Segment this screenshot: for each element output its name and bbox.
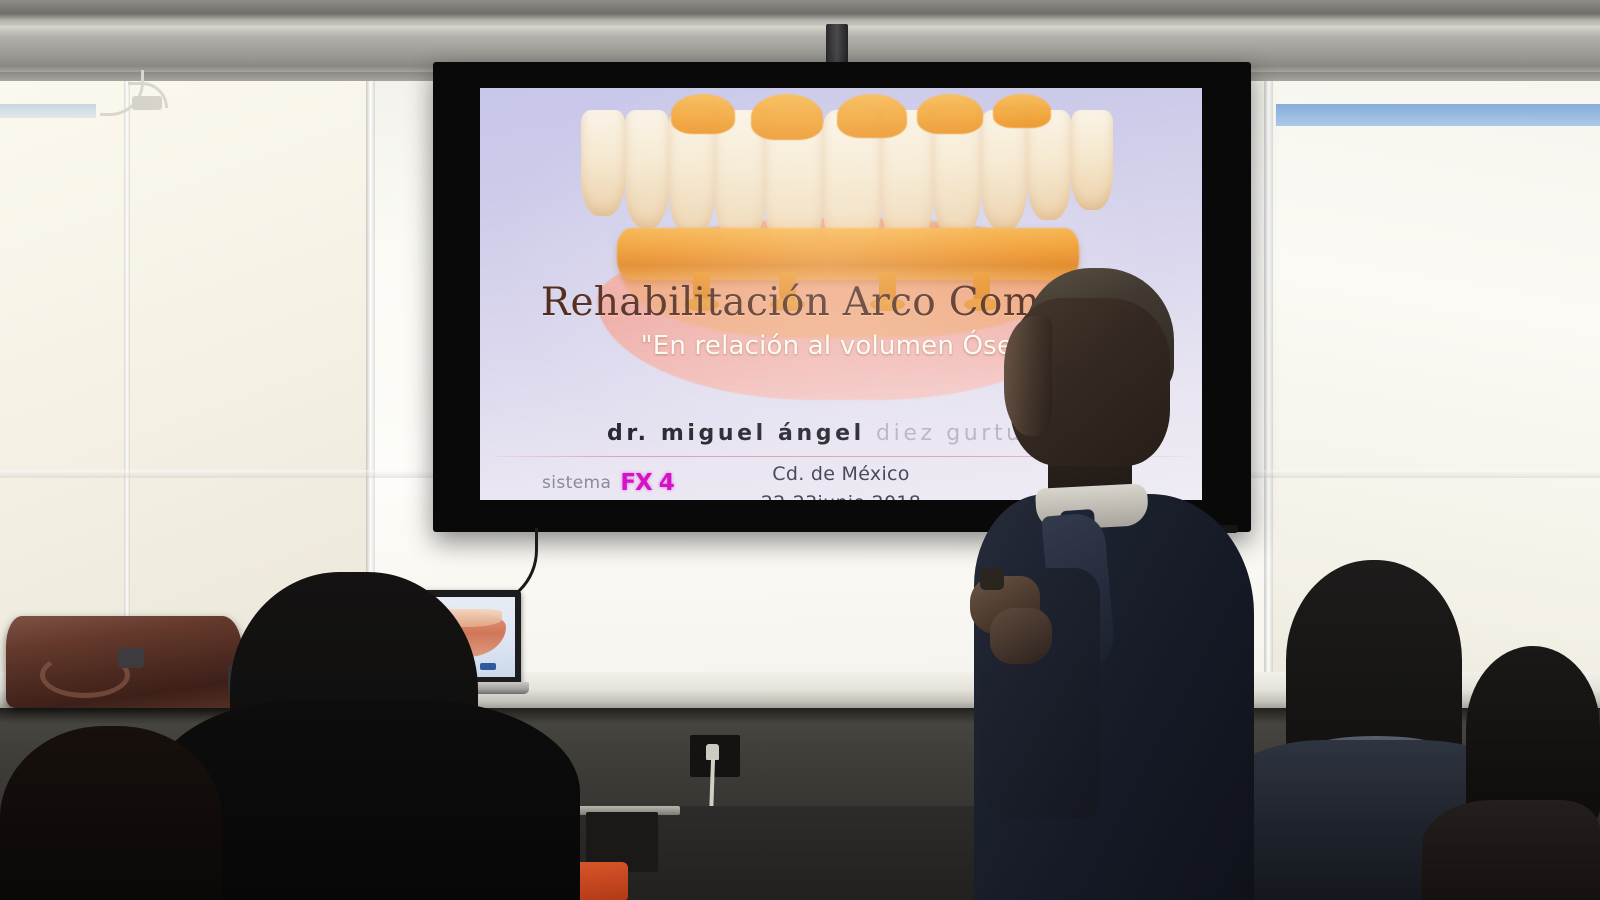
presenter-hand-lower — [990, 608, 1052, 664]
audience-member-head-far-right — [1466, 646, 1600, 822]
audience-member-body-far-right — [1422, 800, 1600, 900]
presenter-clicker — [980, 568, 1004, 590]
audience-member-head-bottom-left — [0, 726, 222, 900]
author-name-strong: dr. miguel ángel — [607, 421, 876, 446]
presentation-room-photo: Rehabilitación Arco Completo "En relació… — [0, 0, 1600, 900]
presenter — [952, 268, 1272, 900]
sky-strip-right — [1276, 104, 1600, 126]
laptop-ui-tag — [480, 663, 496, 670]
bag-strap — [40, 652, 130, 698]
presenter-face-profile — [1004, 316, 1052, 436]
power-adapter — [132, 96, 162, 110]
sky-strip-left — [0, 104, 96, 118]
bag-buckle — [118, 648, 144, 668]
